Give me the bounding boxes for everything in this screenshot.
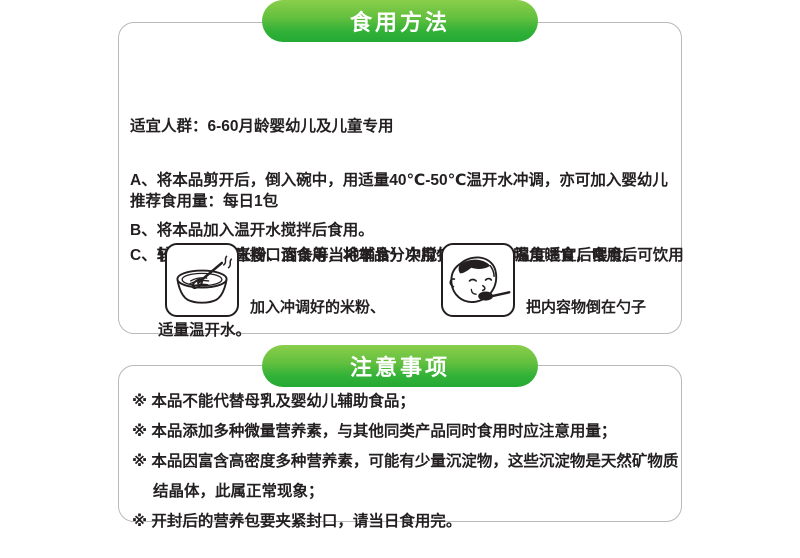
notice-item-2-line-1: ※ 本品添加多种微量营养素，与其他同类产品同时食用时应注意用量； xyxy=(132,417,678,447)
section-usage: 食用方法 适宜人群：6-60月龄婴幼儿及儿童专用 推荐食用量：每日1包 A、将本… xyxy=(118,22,682,334)
notice-item-3-line-2: 结晶体，此属正常现象； xyxy=(132,477,678,507)
notice-item-4: ※ 开封后的营养包要夹紧封口，请当日食用完。 xyxy=(132,507,678,537)
notice-item-3-text-1: 本品因富含高密度多种营养素，可能有少量沉淀物，这些沉淀物是天然矿物质 xyxy=(151,453,678,470)
notice-item-2-text-1: 本品添加多种微量营养素，与其他同类产品同时食用时应注意用量； xyxy=(151,423,616,440)
notice-item-4-line-1: ※ 开封后的营养包要夹紧封口，请当日食用完。 xyxy=(132,507,678,537)
usage-illustration-2-caption-line-1: 把内容物倒在勺子 xyxy=(526,295,646,320)
notice-item-1-text-1: 本品不能代替母乳及婴幼儿辅助食品； xyxy=(151,393,415,410)
usage-illustration-1-caption-line-1: 加入冲调好的米粉、 xyxy=(250,295,385,320)
notice-item-3-line-1: ※ 本品因富含高密度多种营养素，可能有少量沉淀物，这些沉淀物是天然矿物质 xyxy=(132,447,678,477)
bowl-with-spoon-icon xyxy=(165,243,239,317)
notice-item-2: ※ 本品添加多种微量营养素，与其他同类产品同时食用时应注意用量； xyxy=(132,417,678,447)
notice-section-title-pill: 注意事项 xyxy=(262,345,538,387)
notice-item-3: ※ 本品因富含高密度多种营养素，可能有少量沉淀物，这些沉淀物是天然矿物质 结晶体… xyxy=(132,447,678,507)
section-notice: 注意事项 ※ 本品不能代替母乳及婴幼儿辅助食品； ※ 本品添加多种微量营养素，与… xyxy=(118,365,682,522)
notice-section-title: 注意事项 xyxy=(350,350,450,382)
notice-list: ※ 本品不能代替母乳及婴幼儿辅助食品； ※ 本品添加多种微量营养素，与其他同类产… xyxy=(132,387,678,537)
usage-step-c-marker: C、 xyxy=(130,247,157,264)
notice-item-1-marker: ※ xyxy=(132,393,147,410)
notice-item-4-marker: ※ xyxy=(132,513,147,530)
notice-item-3-marker: ※ xyxy=(132,453,147,470)
notice-item-4-text-1: 开封后的营养包要夹紧封口，请当日食用完。 xyxy=(151,513,461,530)
baby-feeding-spoon-icon xyxy=(441,243,515,317)
usage-section-title: 食用方法 xyxy=(350,5,450,37)
usage-section-title-pill: 食用方法 xyxy=(262,0,538,42)
notice-item-2-marker: ※ xyxy=(132,423,147,440)
notice-item-1-line-1: ※ 本品不能代替母乳及婴幼儿辅助食品； xyxy=(132,387,678,417)
notice-item-1: ※ 本品不能代替母乳及婴幼儿辅助食品； xyxy=(132,387,678,417)
product-instructions-page: 食用方法 适宜人群：6-60月龄婴幼儿及儿童专用 推荐食用量：每日1包 A、将本… xyxy=(0,0,800,558)
